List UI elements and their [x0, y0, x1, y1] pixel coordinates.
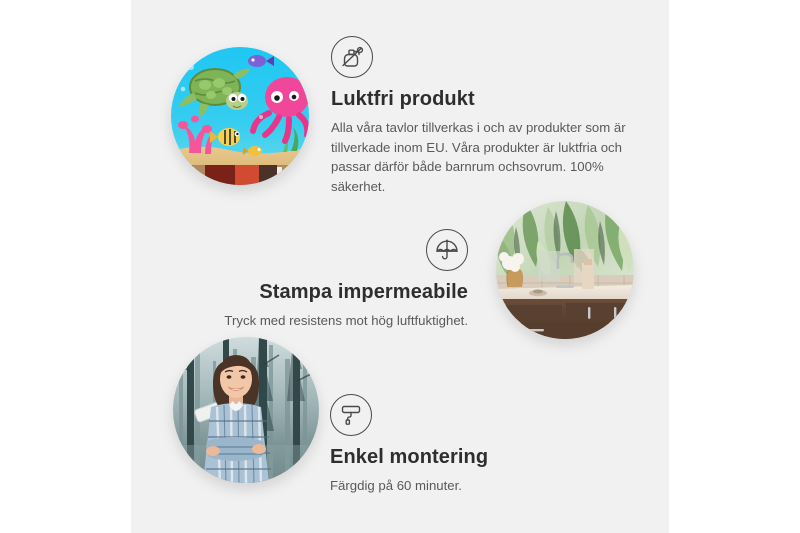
painter-photo [173, 337, 319, 483]
promo-feature-panel: Luktfri produkt Alla våra tavlor tillver… [0, 0, 800, 533]
feature-body: Tryck med resistens mot hög luftfuktighe… [207, 311, 468, 331]
feature-waterproof: Stampa impermeabile Tryck med resistens … [207, 229, 468, 331]
feature-odour-free: Luktfri produkt Alla våra tavlor tillver… [331, 36, 631, 196]
image-bathroom-wallpaper [496, 201, 634, 339]
underwater-illustration [171, 47, 309, 185]
feature-title: Luktfri produkt [331, 88, 631, 111]
feature-title: Stampa impermeabile [207, 281, 468, 304]
feature-body: Alla våra tavlor tillverkas i och av pro… [331, 118, 631, 196]
no-fragrance-icon [331, 36, 373, 78]
image-painter-woman [173, 337, 319, 483]
paint-roller-icon [330, 394, 372, 436]
feature-easy-mounting: Enkel montering Färgdig på 60 minuter. [330, 394, 600, 496]
feature-body: Färgdig på 60 minuter. [330, 476, 600, 496]
bathroom-photo [496, 201, 634, 339]
image-underwater-mural [171, 47, 309, 185]
umbrella-icon [426, 229, 468, 271]
feature-title: Enkel montering [330, 446, 600, 469]
